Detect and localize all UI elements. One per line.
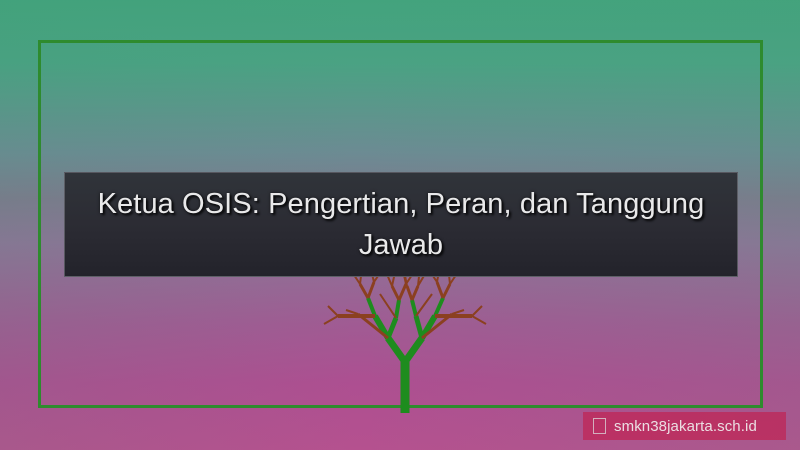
title-panel: Ketua OSIS: Pengertian, Peran, dan Tangg… xyxy=(64,172,738,277)
page-title: Ketua OSIS: Pengertian, Peran, dan Tangg… xyxy=(65,184,737,266)
watermark-domain-text: smkn38jakarta.sch.id xyxy=(614,418,757,435)
tree-icon xyxy=(300,258,510,413)
missing-glyph-box-icon xyxy=(593,418,606,434)
watermark-badge: smkn38jakarta.sch.id xyxy=(583,412,786,440)
slide-canvas: Ketua OSIS: Pengertian, Peran, dan Tangg… xyxy=(0,0,800,450)
fractal-tree-illustration xyxy=(300,258,510,413)
